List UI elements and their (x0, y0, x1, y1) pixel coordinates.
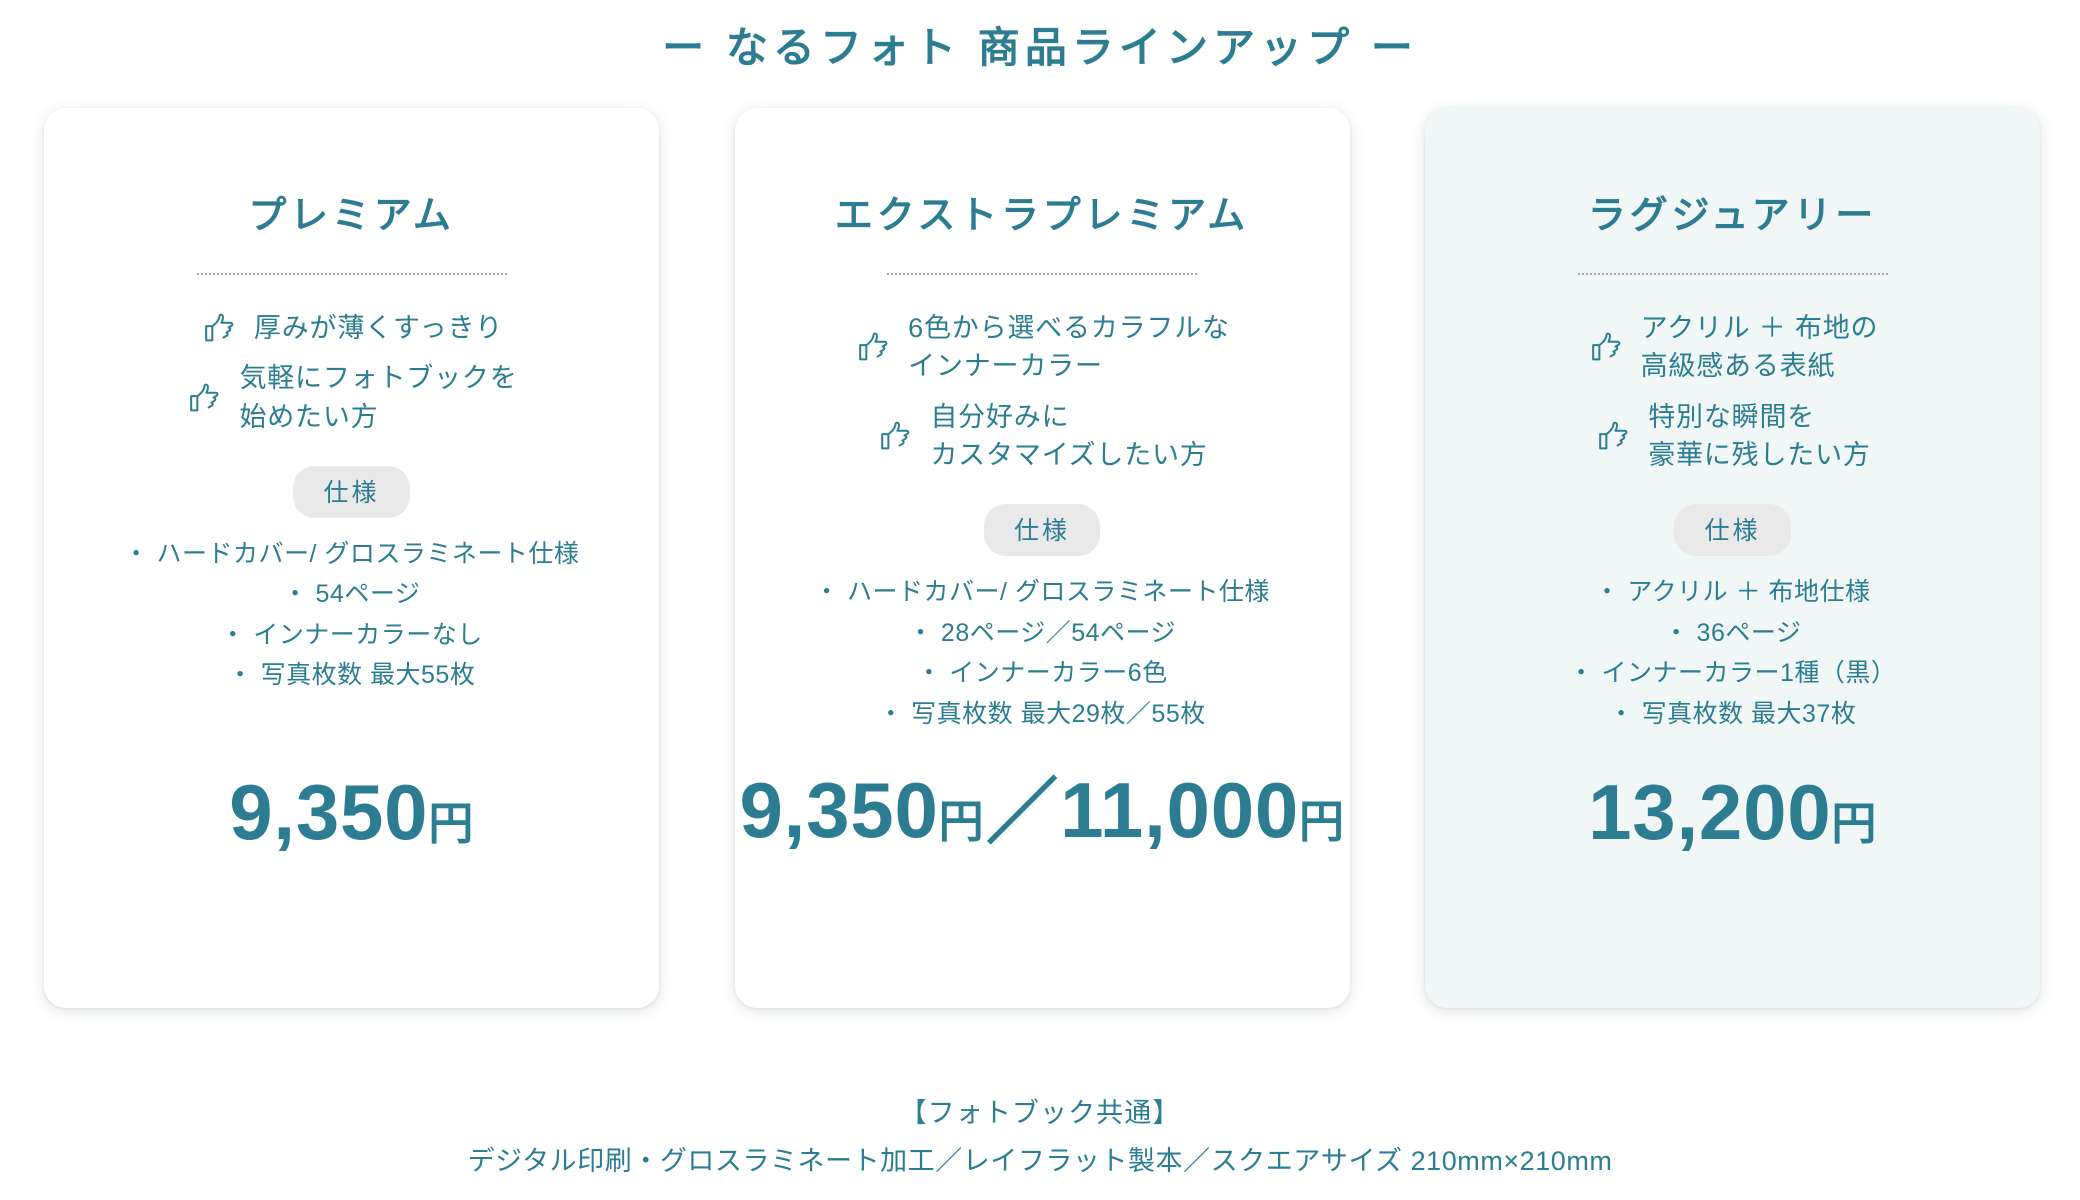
spec-item: ・ 28ページ／54ページ (814, 613, 1270, 654)
feature-text: 6色から選べるカラフルな インナーカラー (908, 309, 1230, 386)
spec-badge: 仕様 (984, 504, 1100, 556)
thumbs-up-icon (1594, 417, 1632, 455)
thumbs-up-icon (876, 417, 914, 455)
thumbs-up-icon (185, 379, 223, 417)
spec-item: ・ インナーカラー6色 (814, 653, 1270, 694)
plan-price: 9,350円 (44, 767, 659, 858)
price-amount: 9,350 (229, 768, 428, 856)
thumbs-up-icon (854, 328, 892, 366)
spec-badge: 仕様 (293, 466, 409, 518)
feature-text: アクリル ＋ 布地の 高級感ある表紙 (1641, 309, 1879, 386)
feature-text: 特別な瞬間を 豪華に残したい方 (1648, 398, 1870, 475)
price-amount: 13,200 (1588, 768, 1831, 856)
price-currency: 円 (939, 796, 984, 847)
price-currency: 円 (1831, 798, 1876, 849)
price-currency: 円 (428, 798, 473, 849)
feature-list: 6色から選べるカラフルな インナーカラー 自分好みに カスタマイズしたい方 (753, 309, 1332, 474)
title-divider (1578, 273, 1888, 275)
plan-price: 9,350円／11,000円 (735, 753, 1350, 858)
thumbs-up-icon (200, 309, 238, 347)
feature-item: 気軽にフォトブックを 始めたい方 (185, 359, 517, 436)
plan-card-luxury[interactable]: ラグジュアリー アクリル ＋ 布地の 高級感ある表紙 特別な瞬間を 豪華に残した… (1425, 108, 2040, 1008)
spec-item: ・ 写真枚数 最大29枚／55枚 (814, 694, 1270, 735)
feature-item: アクリル ＋ 布地の 高級感ある表紙 (1587, 309, 1879, 386)
spec-item: ・ インナーカラーなし (124, 615, 580, 656)
feature-list: 厚みが薄くすっきり 気軽にフォトブックを 始めたい方 (62, 309, 641, 436)
plan-title: ラグジュアリー (1588, 184, 1877, 239)
footer-heading: 【フォトブック共通】 (0, 1091, 2080, 1130)
spec-item: ・ 写真枚数 最大55枚 (124, 655, 580, 696)
feature-list: アクリル ＋ 布地の 高級感ある表紙 特別な瞬間を 豪華に残したい方 (1443, 309, 2022, 474)
spec-item: ・ 54ページ (124, 574, 580, 615)
feature-text: 厚みが薄くすっきり (254, 309, 503, 347)
feature-item: 6色から選べるカラフルな インナーカラー (854, 309, 1230, 386)
feature-text: 気軽にフォトブックを 始めたい方 (239, 359, 517, 436)
thumbs-up-icon (1587, 328, 1625, 366)
spec-item: ・ 写真枚数 最大37枚 (1569, 694, 1897, 735)
plan-price: 13,200円 (1425, 767, 2040, 858)
feature-item: 自分好みに カスタマイズしたい方 (876, 398, 1207, 475)
spec-item: ・ インナーカラー1種（黒） (1569, 653, 1897, 694)
feature-item: 特別な瞬間を 豪華に残したい方 (1594, 398, 1870, 475)
product-lineup-page: ー なるフォト 商品ラインアップ ー プレミアム 厚みが薄くすっきり (0, 0, 2080, 1200)
spec-item: ・ 36ページ (1569, 613, 1897, 654)
price-separator: ／ (984, 773, 1060, 853)
price-amount: 9,350 (740, 766, 939, 854)
title-divider (197, 273, 507, 275)
feature-item: 厚みが薄くすっきり (200, 309, 503, 347)
footer-detail: デジタル印刷・グロスラミネート加工／レイフラット製本／スクエアサイズ 210mm… (0, 1139, 2080, 1178)
spec-list: ・ ハードカバー/ グロスラミネート仕様 ・ 28ページ／54ページ ・ インナ… (814, 572, 1270, 734)
price-amount-2: 11,000 (1060, 766, 1299, 854)
plan-title: エクストラプレミアム (835, 184, 1249, 239)
spec-list: ・ アクリル ＋ 布地仕様 ・ 36ページ ・ インナーカラー1種（黒） ・ 写… (1569, 572, 1897, 734)
feature-text: 自分好みに カスタマイズしたい方 (930, 398, 1207, 475)
price-currency-2: 円 (1299, 796, 1344, 847)
spec-item: ・ アクリル ＋ 布地仕様 (1569, 572, 1897, 613)
plan-card-deck: プレミアム 厚みが薄くすっきり 気軽にフォトブックを 始めたい方 (44, 108, 2040, 1018)
spec-list: ・ ハードカバー/ グロスラミネート仕様 ・ 54ページ ・ インナーカラーなし… (124, 534, 580, 696)
spec-item: ・ ハードカバー/ グロスラミネート仕様 (814, 572, 1270, 613)
spec-item: ・ ハードカバー/ グロスラミネート仕様 (124, 534, 580, 575)
spec-badge: 仕様 (1674, 504, 1790, 556)
plan-title: プレミアム (248, 184, 454, 239)
page-title: ー なるフォト 商品ラインアップ ー (0, 14, 2080, 75)
plan-card-premium[interactable]: プレミアム 厚みが薄くすっきり 気軽にフォトブックを 始めたい方 (44, 108, 659, 1008)
plan-card-extra-premium[interactable]: エクストラプレミアム 6色から選べるカラフルな インナーカラー 自分好みに カス… (735, 108, 1350, 1008)
footer-note: 【フォトブック共通】 デジタル印刷・グロスラミネート加工／レイフラット製本／スク… (0, 1091, 2080, 1178)
title-divider (887, 273, 1197, 275)
